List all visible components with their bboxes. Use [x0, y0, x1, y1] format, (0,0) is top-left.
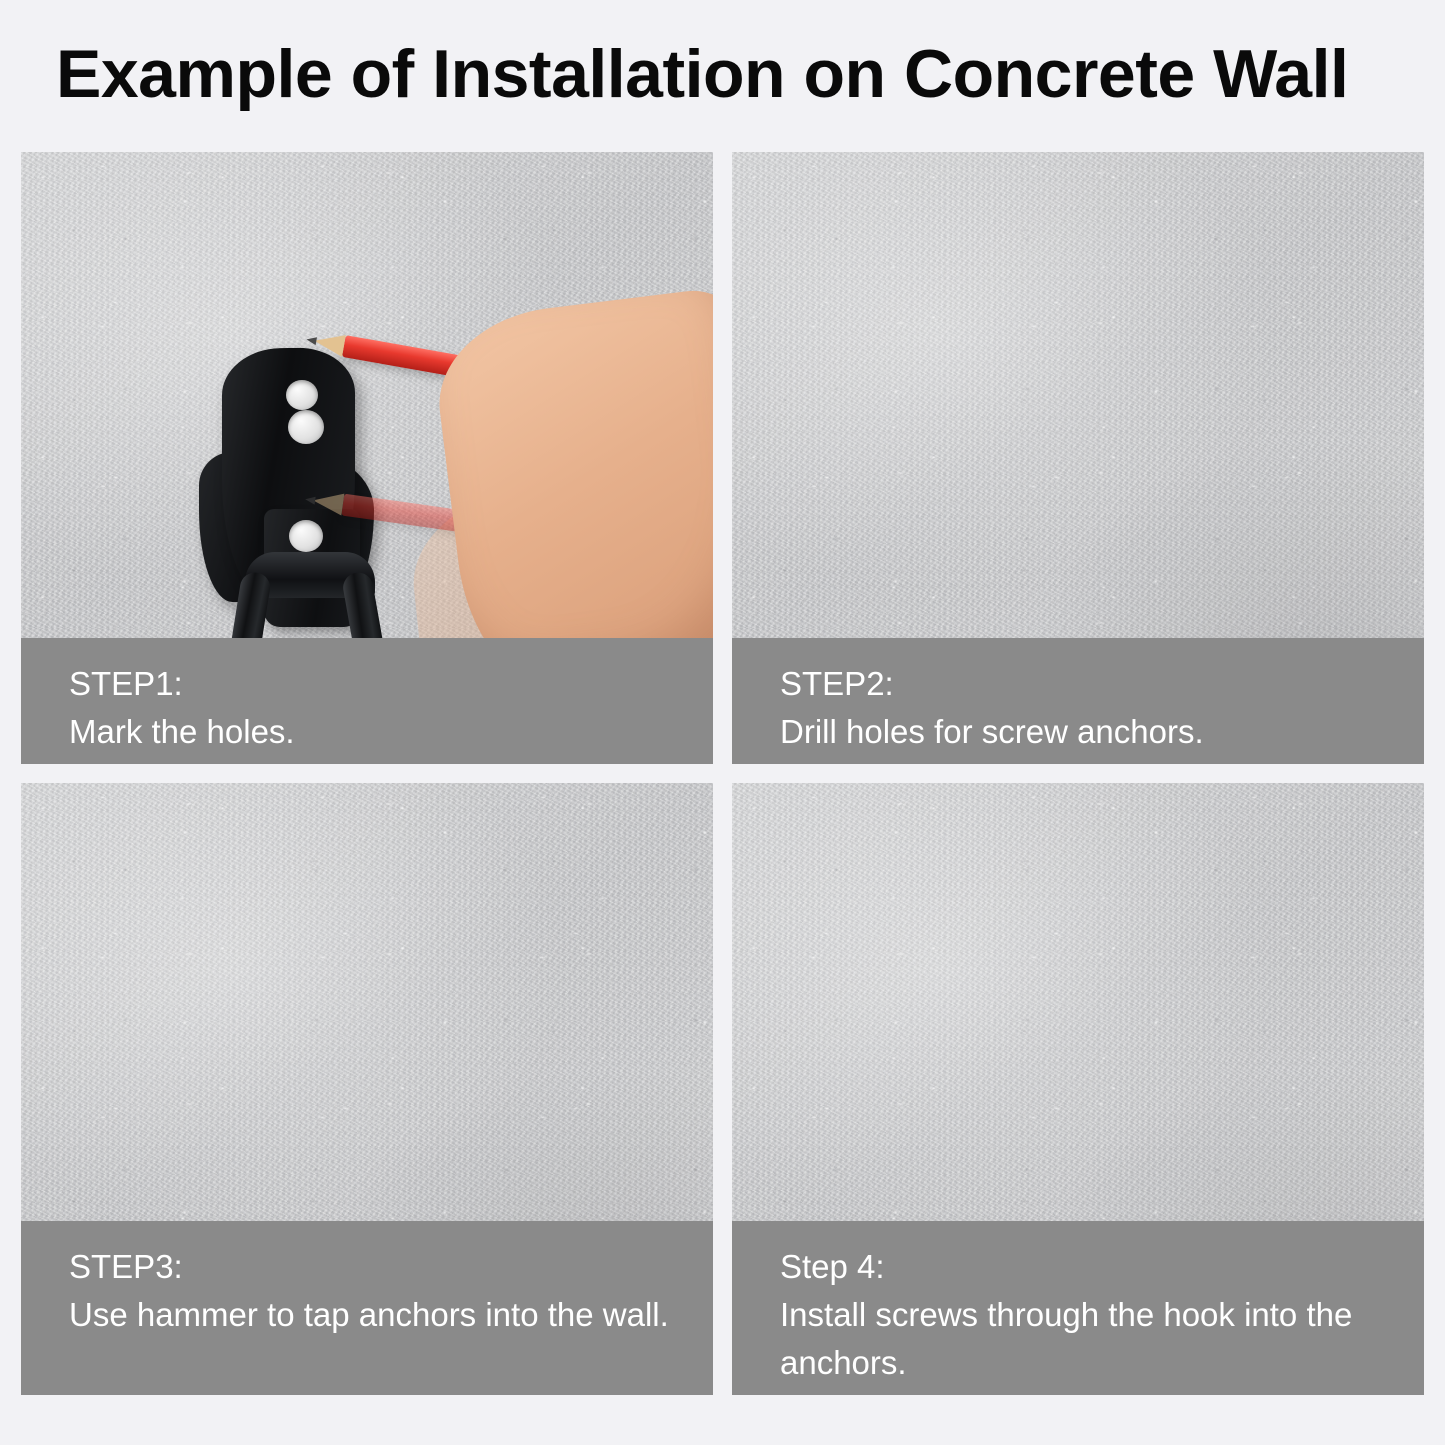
step-4-label: Step 4: [780, 1243, 1424, 1291]
mounting-hole-3 [289, 520, 323, 552]
step-panel-3: STEP3: Use hammer to tap anchors into th… [21, 783, 713, 1395]
mounting-hole-2 [288, 410, 324, 444]
step-3-caption: STEP3: Use hammer to tap anchors into th… [21, 1221, 713, 1395]
step-panel-1: STEP1: Mark the holes. [21, 152, 713, 764]
mounting-hole-1 [286, 380, 318, 410]
step-3-label: STEP3: [69, 1243, 713, 1291]
step-panel-4: Step 4: Install screws through the hook … [732, 783, 1424, 1395]
step-1-caption: STEP1: Mark the holes. [21, 638, 713, 764]
step-panel-2: 13 11 9 STEP2: Drill holes for screw anc… [732, 152, 1424, 764]
step-3-text: Use hammer to tap anchors into the wall. [69, 1291, 713, 1339]
step-1-label: STEP1: [69, 660, 713, 708]
step-2-label: STEP2: [780, 660, 1424, 708]
step-2-caption: STEP2: Drill holes for screw anchors. [732, 638, 1424, 764]
step-2-text: Drill holes for screw anchors. [780, 708, 1424, 756]
page-title: Example of Installation on Concrete Wall [56, 26, 1396, 122]
step-1-text: Mark the holes. [69, 708, 713, 756]
step-4-text: Install screws through the hook into the… [780, 1291, 1424, 1387]
step-4-caption: Step 4: Install screws through the hook … [732, 1221, 1424, 1395]
installation-steps-grid: STEP1: Mark the holes. 13 11 9 STE [21, 152, 1424, 1412]
